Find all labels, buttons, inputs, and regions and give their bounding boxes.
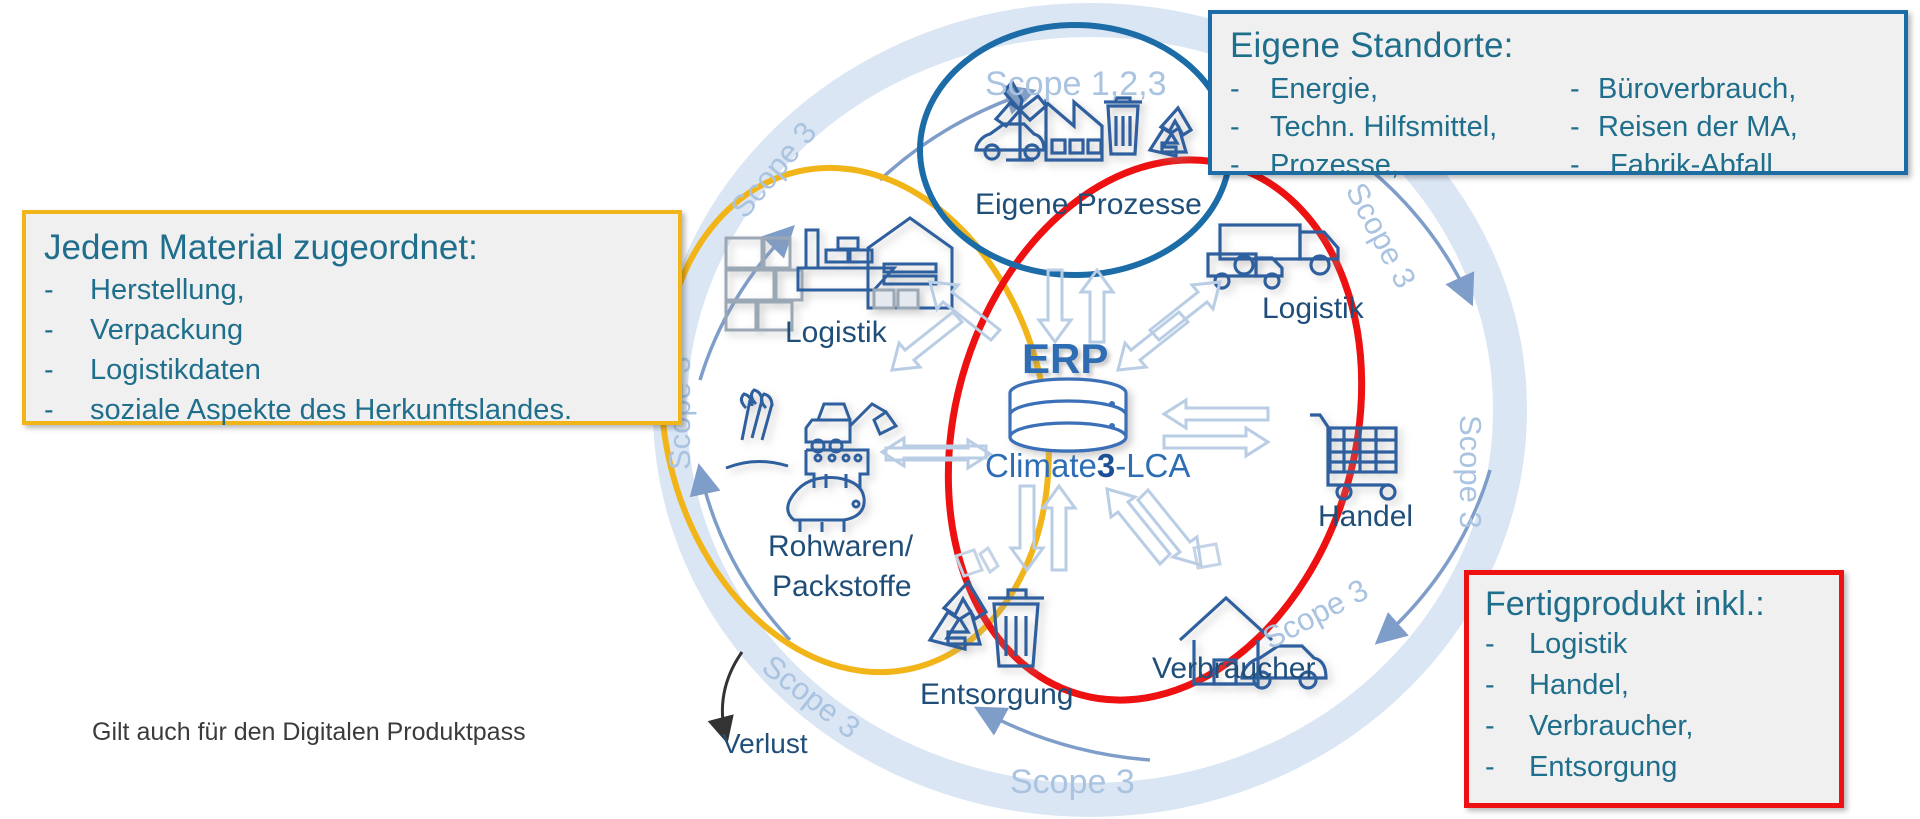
- callout-list-fertigprodukt: -Logistik -Handel, -Verbraucher, -Entsor…: [1485, 624, 1839, 788]
- scope-label-bottom: Scope 3: [1010, 763, 1135, 801]
- list-item-text: Techn. Hilfsmittel,: [1270, 108, 1497, 146]
- list-item: -Fabrik-Abfall: [1570, 146, 1798, 184]
- bullet-dash: -: [1230, 146, 1270, 184]
- list-item: -soziale Aspekte des Herkunftslandes.: [44, 390, 678, 430]
- raw-materials-icon: [726, 390, 896, 532]
- list-item-text: Reisen der MA,: [1598, 108, 1798, 146]
- list-item-text: Prozesse,: [1270, 146, 1399, 184]
- bullet-dash: -: [44, 390, 90, 430]
- list-item-text: soziale Aspekte des Herkunftslandes.: [90, 390, 572, 430]
- list-item: -Handel,: [1485, 665, 1839, 706]
- node-label-verbraucher: Verbraucher: [1152, 652, 1315, 686]
- callout-list-standorte-col2: -Büroverbrauch, -Reisen der MA, -Fabrik-…: [1570, 70, 1798, 184]
- node-label-entsorgung: Entsorgung: [920, 678, 1073, 712]
- erp-label: ERP: [1022, 335, 1108, 383]
- climate-lca-label: Climate3-LCA: [985, 447, 1190, 485]
- lca-prefix: Climate: [985, 447, 1097, 484]
- bullet-dash: -: [1570, 70, 1598, 108]
- list-item: -Reisen der MA,: [1570, 108, 1798, 146]
- list-item: -Prozesse,: [1230, 146, 1570, 184]
- list-item: -Techn. Hilfsmittel,: [1230, 108, 1570, 146]
- list-item-text: Logistikdaten: [90, 350, 261, 390]
- callout-title-fertigprodukt: Fertigprodukt inkl.:: [1485, 585, 1839, 624]
- lca-bold: 3: [1097, 447, 1115, 484]
- list-item: -Logistik: [1485, 624, 1839, 665]
- erp-database-icon: [1010, 379, 1126, 451]
- callout-fertigprodukt: Fertigprodukt inkl.: -Logistik -Handel, …: [1464, 570, 1844, 808]
- node-label-eigene-prozesse: Eigene Prozesse: [975, 188, 1202, 222]
- callout-jedem-material: Jedem Material zugeordnet: -Herstellung,…: [22, 210, 682, 425]
- lca-suffix: -LCA: [1115, 447, 1190, 484]
- node-label-rohwaren-line1: Rohwaren/: [768, 530, 913, 564]
- bullet-dash: -: [44, 350, 90, 390]
- list-item: -Herstellung,: [44, 270, 678, 310]
- bullet-dash: -: [1230, 70, 1270, 108]
- bullet-dash: -: [1485, 706, 1529, 747]
- callout-list-standorte-col1: -Energie, -Techn. Hilfsmittel, -Prozesse…: [1230, 70, 1570, 184]
- scope-label-mid-right: Scope 3: [1453, 415, 1488, 529]
- bullet-dash: -: [1485, 665, 1529, 706]
- bullet-dash: -: [44, 270, 90, 310]
- bullet-dash: -: [1485, 624, 1529, 665]
- list-item-text: Entsorgung: [1529, 747, 1677, 788]
- node-label-handel: Handel: [1318, 500, 1413, 534]
- callout-title-jedem-material: Jedem Material zugeordnet:: [44, 228, 678, 268]
- list-item: -Logistikdaten: [44, 350, 678, 390]
- bullet-dash: -: [1570, 108, 1598, 146]
- scope-label-upper-right: Scope 3: [1339, 177, 1423, 294]
- list-item: -Verpackung: [44, 310, 678, 350]
- list-item: -Energie,: [1230, 70, 1570, 108]
- node-label-rohwaren-line2: Packstoffe: [772, 570, 912, 604]
- footnote-text: Gilt auch für den Digitalen Produktpass: [92, 718, 526, 747]
- list-item-text: Verbraucher,: [1529, 706, 1693, 747]
- list-item-text: Herstellung,: [90, 270, 245, 310]
- verlust-arrow: [722, 652, 742, 738]
- scope-label-top: Scope 1,2,3: [985, 65, 1166, 103]
- bullet-dash: -: [1230, 108, 1270, 146]
- callout-title-eigene-standorte: Eigene Standorte:: [1230, 26, 1904, 66]
- list-item-text: Energie,: [1270, 70, 1378, 108]
- list-item: -Büroverbrauch,: [1570, 70, 1798, 108]
- callout-list-material: -Herstellung, -Verpackung -Logistikdaten…: [44, 270, 678, 430]
- logistics-left-icon: [726, 218, 952, 330]
- blue-own-processes-circle: [920, 25, 1230, 275]
- node-label-logistik-right: Logistik: [1262, 292, 1364, 326]
- list-item-text: Logistik: [1529, 624, 1627, 665]
- list-item: -Entsorgung: [1485, 747, 1839, 788]
- node-label-verlust: Verlust: [722, 728, 808, 760]
- node-label-logistik-left: Logistik: [785, 316, 887, 350]
- list-item-text: Büroverbrauch,: [1598, 70, 1796, 108]
- list-item: -Verbraucher,: [1485, 706, 1839, 747]
- diagram-canvas: Scope 1,2,3 Scope 3 Scope 3 Scope 3 Scop…: [0, 0, 1920, 819]
- scope-label-lower-right: Scope 3: [1257, 572, 1374, 656]
- bullet-dash: -: [1485, 747, 1529, 788]
- callout-eigene-standorte: Eigene Standorte: -Energie, -Techn. Hilf…: [1208, 10, 1908, 175]
- list-item-text: Fabrik-Abfall: [1610, 146, 1773, 184]
- bullet-dash: -: [1570, 146, 1610, 184]
- list-item-text: Verpackung: [90, 310, 243, 350]
- bullet-dash: -: [44, 310, 90, 350]
- list-item-text: Handel,: [1529, 665, 1629, 706]
